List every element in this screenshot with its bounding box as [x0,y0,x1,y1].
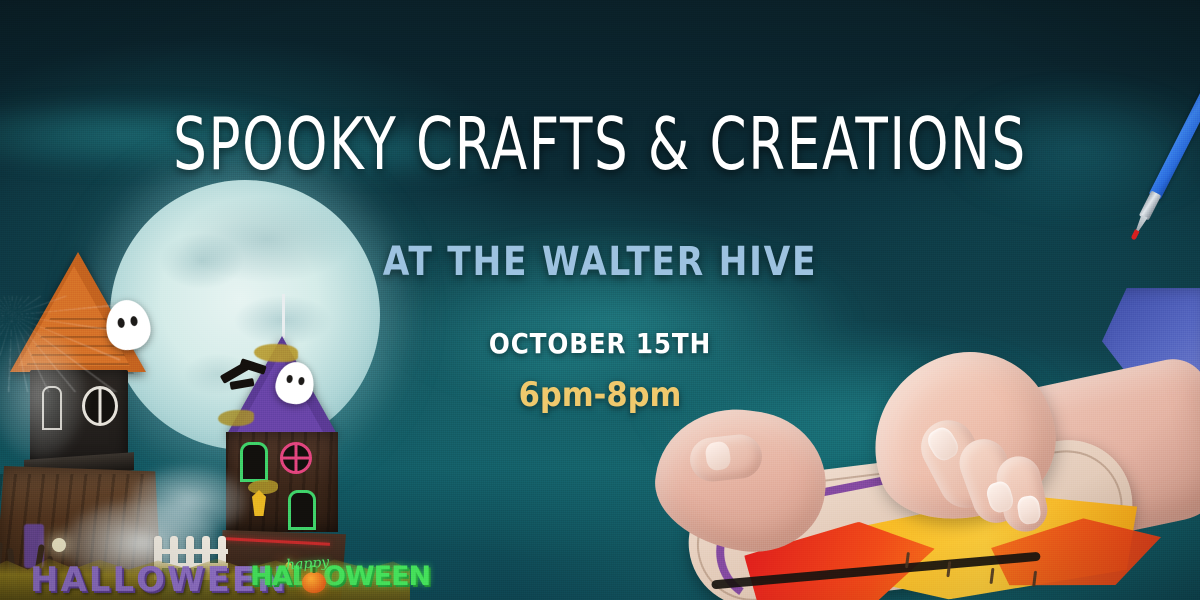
film-grain-overlay [0,0,1200,600]
halloween-event-banner: H A L L O W E E N HALLOWEEN happy [0,0,1200,600]
